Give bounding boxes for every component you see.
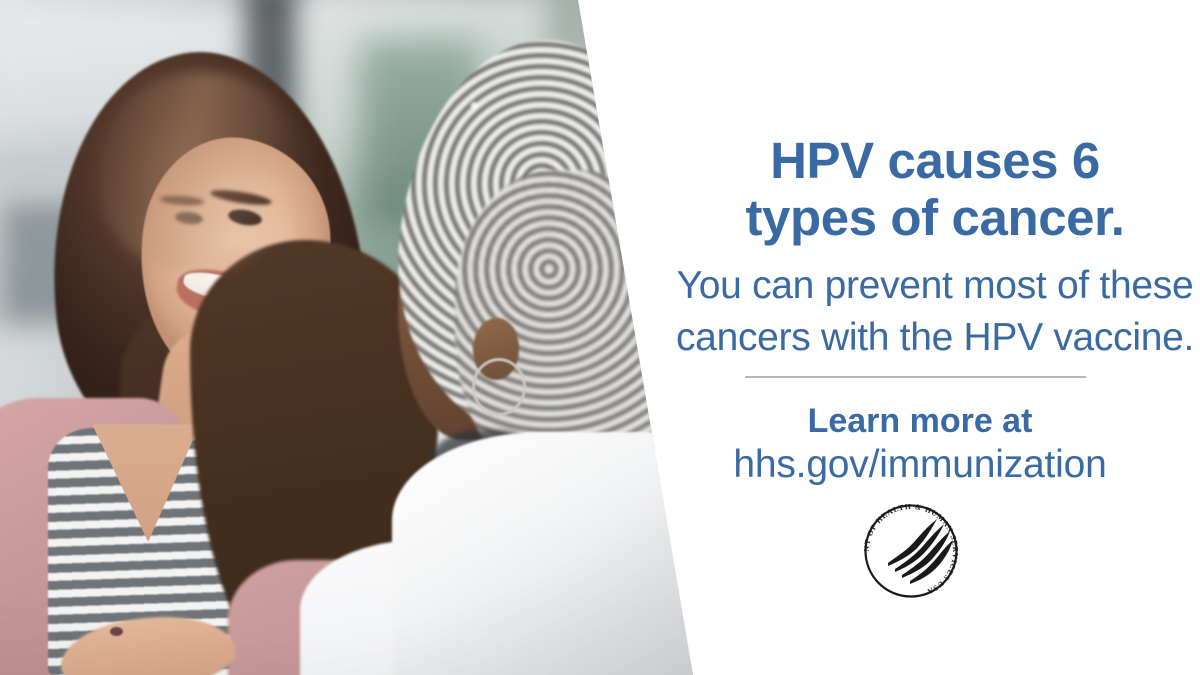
headline: HPV causes 6 types of cancer. — [670, 0, 1200, 246]
cta-label: Learn more at — [670, 402, 1170, 440]
photo-vignette — [0, 0, 710, 675]
clinic-photo — [0, 0, 710, 675]
headline-line-2: types of cancer. — [745, 189, 1124, 246]
hpv-vaccine-campaign-banner: HPV causes 6 types of cancer. You can pr… — [0, 0, 1200, 675]
subheadline-line-1: You can prevent most of these — [677, 264, 1194, 307]
divider — [745, 376, 1086, 378]
subheadline-line-2: cancers with the HPV vaccine. — [676, 316, 1194, 359]
cta-url[interactable]: hhs.gov/immunization — [670, 443, 1170, 487]
message-copy: HPV causes 6 types of cancer. You can pr… — [670, 0, 1200, 364]
hhs-seal-logo: DEPARTMENT OF HEALTH & HUMAN SERVICES US… — [857, 497, 965, 605]
headline-line-1: HPV causes 6 — [770, 132, 1100, 189]
subheadline: You can prevent most of these cancers wi… — [670, 246, 1200, 364]
seal-ring-text: DEPARTMENT OF HEALTH & HUMAN SERVICES US… — [857, 497, 960, 597]
seal-eagle-mark — [888, 519, 953, 584]
